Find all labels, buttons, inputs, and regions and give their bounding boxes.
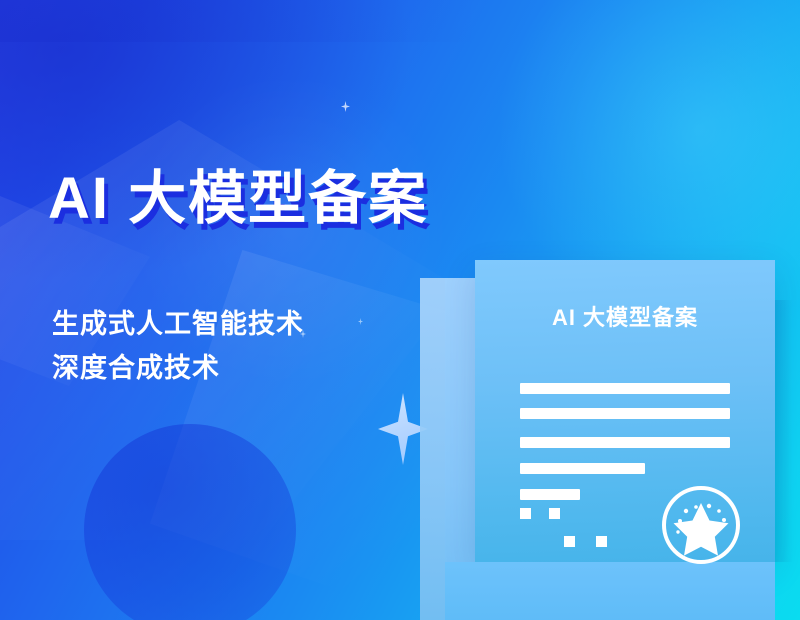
document-content-line bbox=[520, 408, 730, 419]
document-card-bottom-strip bbox=[445, 562, 775, 620]
document-content-square bbox=[564, 536, 575, 547]
ai-model-filing-banner: AI 大模型备案 生成式人工智能技术 深度合成技术 AI 大模型备案 bbox=[0, 0, 800, 620]
document-content-square bbox=[520, 508, 531, 519]
document-content-line bbox=[520, 463, 645, 474]
document-card-title: AI 大模型备案 bbox=[475, 300, 775, 332]
document-content-line bbox=[520, 437, 730, 448]
document-content-line bbox=[520, 383, 730, 394]
document-content-square bbox=[549, 508, 560, 519]
star-seal-icon bbox=[659, 483, 743, 567]
document-content-square bbox=[596, 536, 607, 547]
document-card-stack: AI 大模型备案 bbox=[0, 0, 800, 620]
document-content-line bbox=[520, 489, 580, 500]
document-card-shadow bbox=[775, 300, 793, 562]
